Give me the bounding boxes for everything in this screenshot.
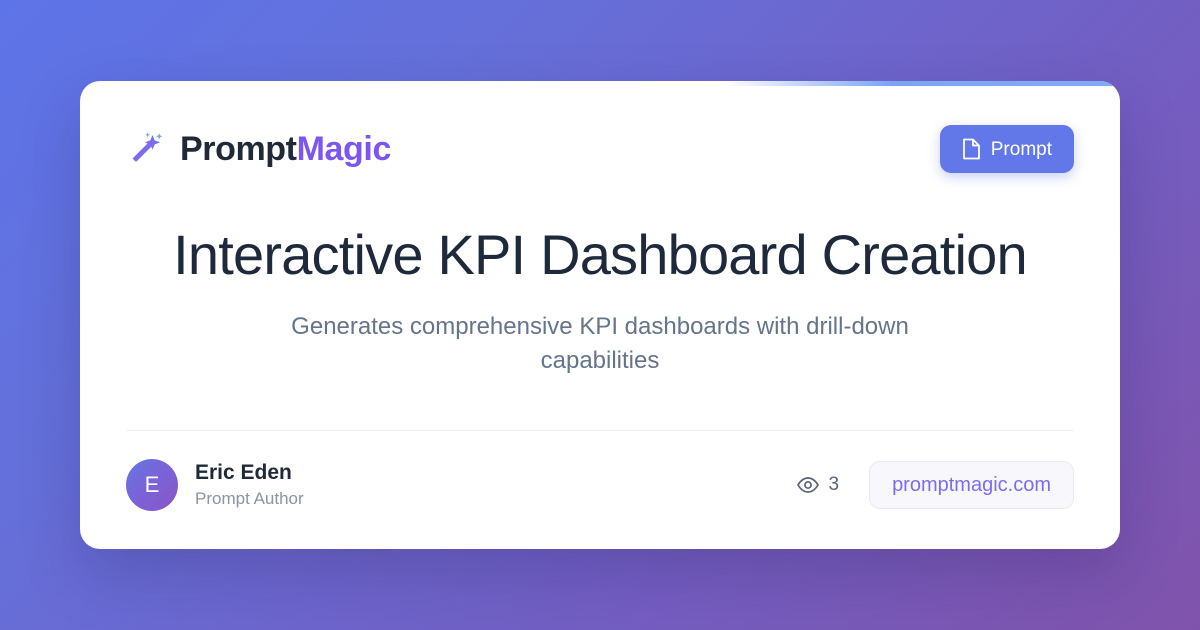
eye-icon xyxy=(797,477,819,493)
card-footer: E Eric Eden Prompt Author 3 pro xyxy=(126,431,1074,549)
avatar: E xyxy=(126,459,178,511)
brand-logo[interactable]: PromptMagic xyxy=(126,129,391,169)
prompt-button-label: Prompt xyxy=(991,140,1052,159)
author-block[interactable]: E Eric Eden Prompt Author xyxy=(126,459,304,511)
document-icon xyxy=(962,138,981,160)
page-title: Interactive KPI Dashboard Creation xyxy=(173,225,1027,285)
author-name: Eric Eden xyxy=(195,460,304,485)
view-count: 3 xyxy=(797,474,839,496)
magic-wand-icon xyxy=(126,129,166,169)
author-text: Eric Eden Prompt Author xyxy=(195,460,304,510)
card-accent-bar xyxy=(80,81,1120,86)
card-header: PromptMagic Prompt xyxy=(126,81,1074,173)
domain-badge[interactable]: promptmagic.com xyxy=(869,461,1074,509)
view-count-value: 3 xyxy=(828,474,839,496)
brand-name: PromptMagic xyxy=(180,132,391,166)
brand-name-prompt: Prompt xyxy=(180,130,297,168)
page-subtitle: Generates comprehensive KPI dashboards w… xyxy=(260,310,940,378)
brand-name-magic: Magic xyxy=(297,130,391,168)
prompt-button[interactable]: Prompt xyxy=(940,125,1074,173)
share-card-wrapper: PromptMagic Prompt Interactive KPI Dashb… xyxy=(80,81,1120,549)
share-card: PromptMagic Prompt Interactive KPI Dashb… xyxy=(80,81,1120,549)
footer-right: 3 promptmagic.com xyxy=(797,461,1074,509)
author-role: Prompt Author xyxy=(195,488,304,510)
hero-section: Interactive KPI Dashboard Creation Gener… xyxy=(126,173,1074,430)
